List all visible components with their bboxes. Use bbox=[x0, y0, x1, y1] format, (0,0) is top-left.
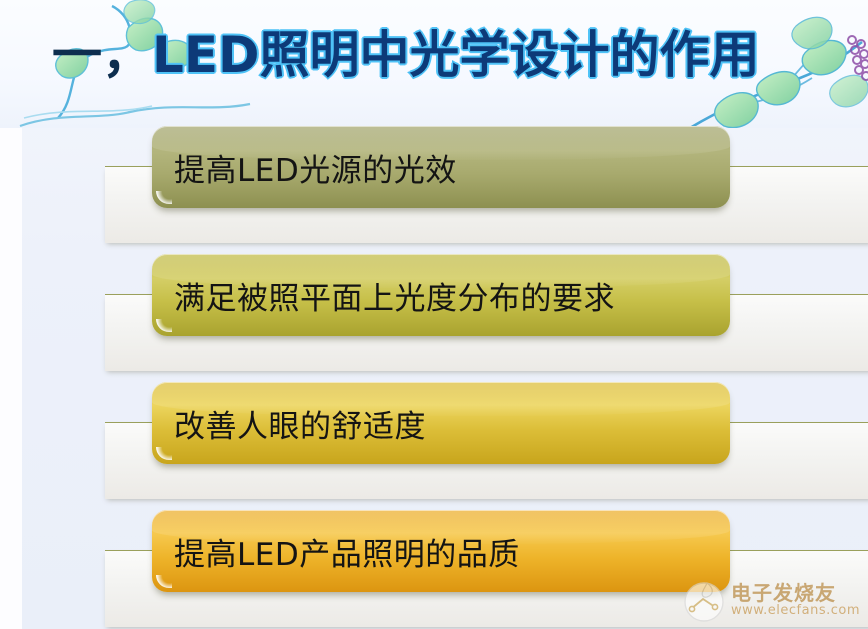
item-label: 提高LED光源的光效 bbox=[174, 145, 457, 190]
list-item: 提高LED光源的光效 bbox=[0, 118, 868, 246]
item-bar-2[interactable]: 满足被照平面上光度分布的要求 bbox=[152, 254, 730, 336]
content-list: 提高LED光源的光效 满足被照平面上光度分布的要求 改善人眼的舒适度 提高LED… bbox=[0, 118, 868, 626]
list-item: 提高LED产品照明的品质 bbox=[0, 502, 868, 626]
title-number: 一， bbox=[52, 26, 152, 84]
list-item: 改善人眼的舒适度 bbox=[0, 374, 868, 502]
page-title: 一，LED照明中光学设计的作用 bbox=[52, 30, 760, 80]
presentation-slide: 一，LED照明中光学设计的作用 提高LED光源的光效 满足被照平面上光度分布的要… bbox=[0, 0, 868, 629]
item-label: 改善人眼的舒适度 bbox=[174, 401, 426, 446]
item-label: 提高LED产品照明的品质 bbox=[174, 529, 520, 574]
slide-header: 一，LED照明中光学设计的作用 bbox=[0, 0, 868, 128]
list-item: 满足被照平面上光度分布的要求 bbox=[0, 246, 868, 374]
item-bar-3[interactable]: 改善人眼的舒适度 bbox=[152, 382, 730, 464]
title-text: LED照明中光学设计的作用 bbox=[152, 26, 760, 84]
item-bar-4[interactable]: 提高LED产品照明的品质 bbox=[152, 510, 730, 592]
grape-cluster-icon bbox=[848, 36, 868, 80]
item-bar-1[interactable]: 提高LED光源的光效 bbox=[152, 126, 730, 208]
item-label: 满足被照平面上光度分布的要求 bbox=[174, 273, 615, 318]
